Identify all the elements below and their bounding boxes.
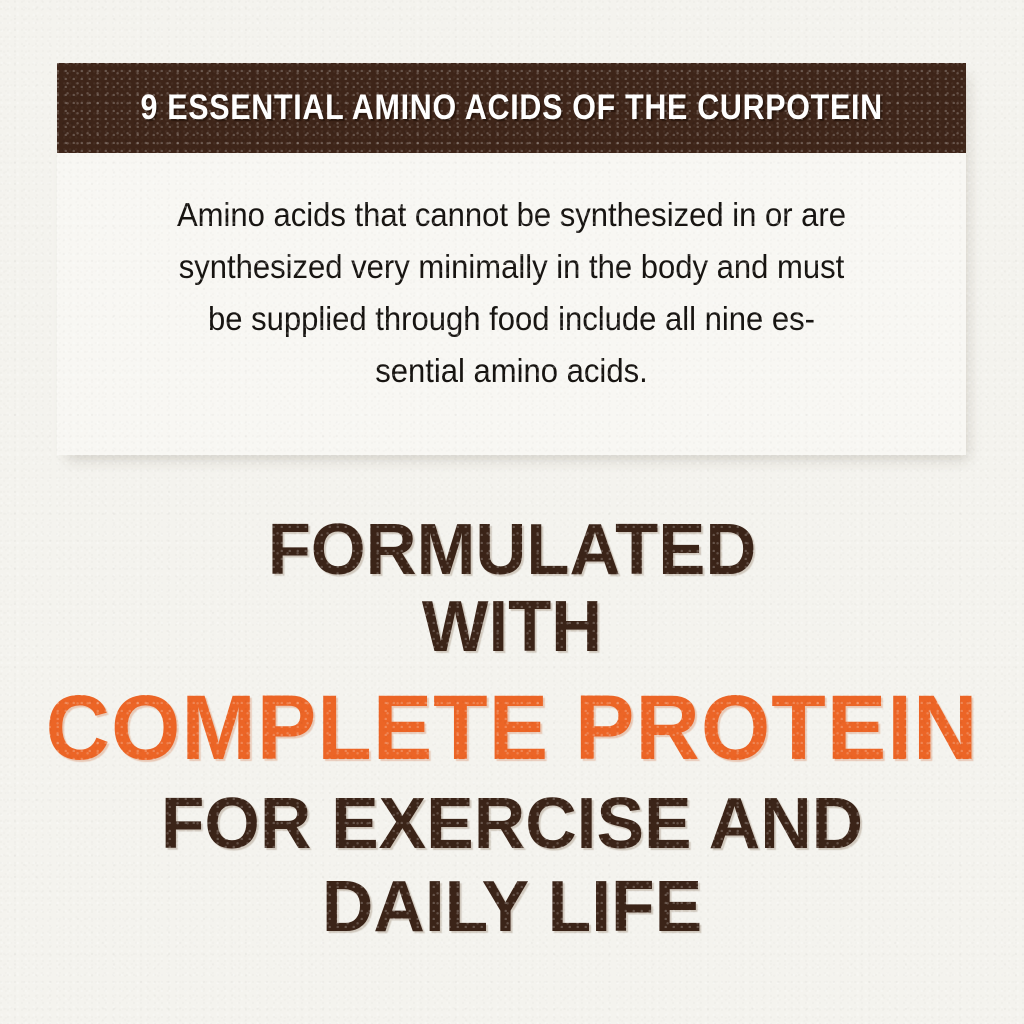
card-header-bar: 9 ESSENTIAL AMINO ACIDS OF THE CURPOTEIN bbox=[57, 63, 966, 153]
headline-line-for-exercise-and: FOR EXERCISE AND bbox=[5, 782, 1019, 866]
paragraph-line-4: sential amino acids. bbox=[375, 352, 647, 389]
headline-line-formulated: FORMULATED bbox=[10, 512, 1014, 588]
paragraph-line-2: synthesized very minimally in the body a… bbox=[179, 248, 845, 285]
paragraph-line-1: Amino acids that cannot be synthesized i… bbox=[177, 196, 846, 233]
marketing-headline: FORMULATED WITH COMPLETE PROTEIN FOR EXE… bbox=[0, 512, 1024, 948]
card-paragraph: Amino acids that cannot be synthesized i… bbox=[139, 189, 884, 397]
card-title: 9 ESSENTIAL AMINO ACIDS OF THE CURPOTEIN bbox=[140, 88, 882, 128]
card-body: Amino acids that cannot be synthesized i… bbox=[57, 153, 966, 397]
paragraph-line-3: be supplied through food include all nin… bbox=[208, 300, 815, 337]
essential-amino-acids-card: 9 ESSENTIAL AMINO ACIDS OF THE CURPOTEIN… bbox=[57, 63, 966, 455]
headline-line-daily-life: DAILY LIFE bbox=[5, 866, 1019, 948]
headline-line-with: WITH bbox=[10, 588, 1014, 666]
headline-line-complete-protein: COMPLETE PROTEIN bbox=[15, 674, 1008, 782]
